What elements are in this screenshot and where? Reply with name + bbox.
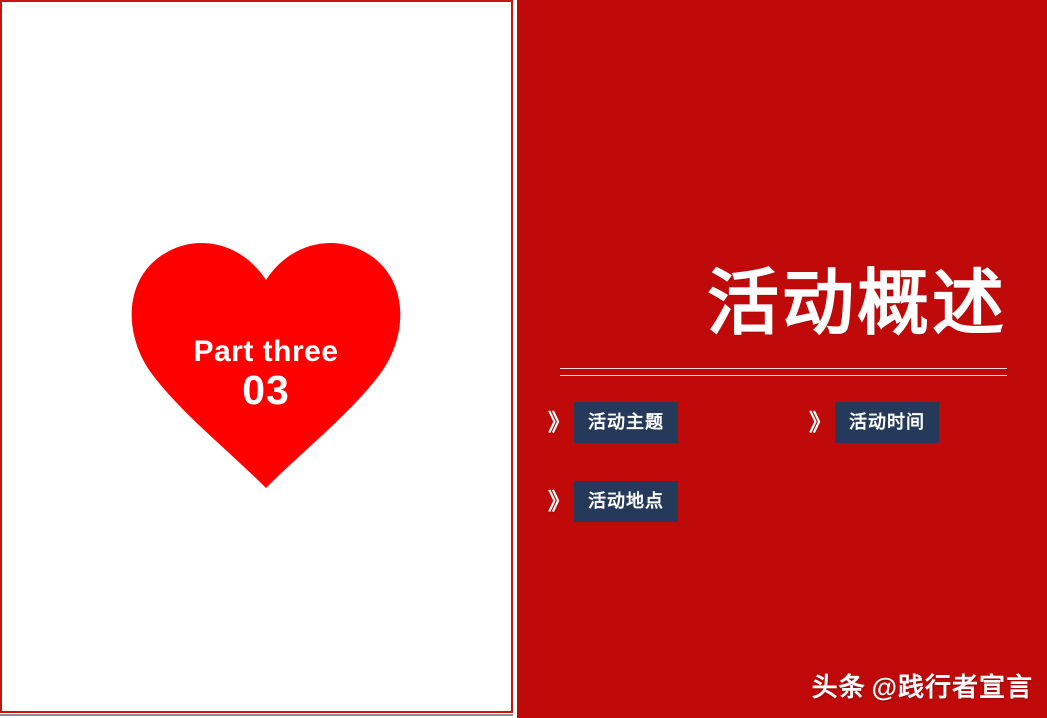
agenda-item-location[interactable]: 》 活动地点	[548, 481, 678, 522]
heart-graphic: Part three 03	[128, 236, 404, 488]
agenda-item-time-label: 活动时间	[835, 402, 939, 443]
title-divider-top	[560, 368, 1007, 369]
title-divider-bottom	[560, 375, 1007, 376]
watermark-handle: @践行者宣言	[872, 672, 1033, 702]
heart-icon	[128, 236, 404, 488]
left-panel-bottom-rule	[0, 714, 513, 716]
right-red-panel: 活动概述 》 活动主题 》 活动时间 》 活动地点 头条@践行者宣言	[517, 0, 1047, 718]
section-title: 活动概述	[517, 268, 1007, 340]
footer-watermark: 头条@践行者宣言	[812, 674, 1033, 700]
agenda-item-time[interactable]: 》 活动时间	[809, 402, 939, 443]
slide-canvas: Part three 03 活动概述 》 活动主题 》 活动时间 》 活动地点 …	[0, 0, 1047, 718]
chevron-right-icon: 》	[548, 411, 574, 434]
agenda-item-topic[interactable]: 》 活动主题	[548, 402, 678, 443]
chevron-right-icon: 》	[548, 490, 574, 513]
chevron-right-icon: 》	[809, 411, 835, 434]
left-white-panel: Part three 03	[0, 0, 513, 713]
agenda-item-location-label: 活动地点	[574, 481, 678, 522]
agenda-item-topic-label: 活动主题	[574, 402, 678, 443]
watermark-brand: 头条	[812, 672, 866, 702]
